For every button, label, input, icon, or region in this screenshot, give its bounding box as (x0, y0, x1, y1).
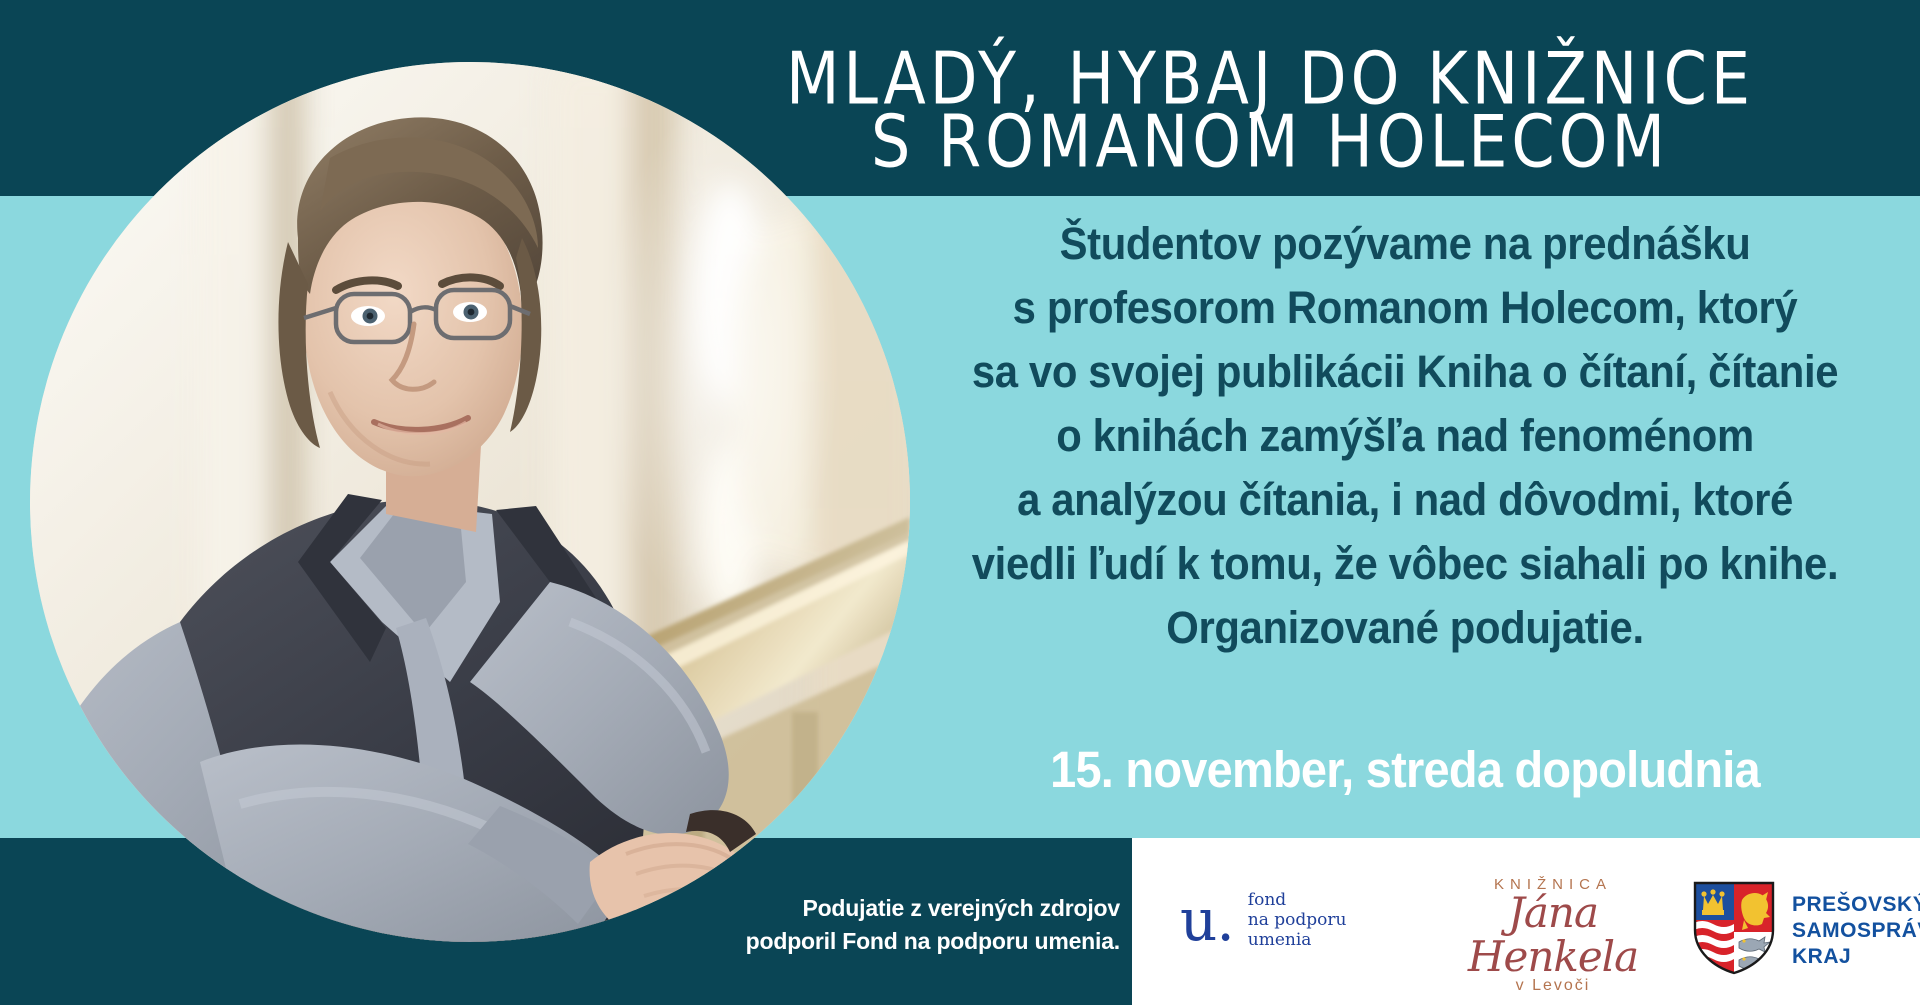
funding-note: Podujatie z verejných zdrojov podporil F… (620, 892, 1120, 958)
psk-line-1: PREŠOVSKÝ (1792, 892, 1920, 918)
kniznica-script-name: Jána Henkela (1438, 891, 1668, 979)
poster-canvas: MLADÝ, HYBAJ DO KNIŽNICE S ROMANOM HOLEC… (0, 0, 1920, 1005)
description-line: s profesorom Romanom Holecom, ktorý (935, 276, 1874, 340)
logo-fond-na-podporu-umenia: u. fond na podporu umenia (1180, 890, 1346, 950)
description-line: Organizované podujatie. (935, 596, 1874, 660)
title-line-2: S ROMANOM HOLECOM (871, 105, 1669, 178)
description-line: sa vo svojej publikácii Kniha o čítaní, … (935, 340, 1874, 404)
funding-note-line-1: Podujatie z verejných zdrojov (620, 892, 1120, 925)
logo-kniznica-jana-henkela: KNIŽNICA Jána Henkela v Levoči (1438, 876, 1668, 995)
description-line: viedli ľudí k tomu, že vôbec siahali po … (935, 532, 1874, 596)
logo-presovsky-samospravny-kraj: PREŠOVSKÝ SAMOSPRÁVNY KRAJ (1692, 880, 1920, 981)
description-line: o knihách zamýšľa nad fenoménom (935, 404, 1874, 468)
description-line: a analýzou čítania, i nad dôvodmi, ktoré (935, 468, 1874, 532)
funding-note-line-2: podporil Fond na podporu umenia. (620, 925, 1120, 958)
fpu-line-2: na podporu (1248, 910, 1347, 930)
psk-logo-text: PREŠOVSKÝ SAMOSPRÁVNY KRAJ (1792, 892, 1920, 970)
fpu-line-3: umenia (1248, 930, 1347, 950)
event-date: 15. november, streda dopoludnia (940, 740, 1869, 800)
fpu-line-1: fond (1248, 890, 1347, 910)
poster-title: MLADÝ, HYBAJ DO KNIŽNICE S ROMANOM HOLEC… (640, 24, 1900, 196)
description-line: Študentov pozývame na prednášku (935, 212, 1874, 276)
fpu-logo-text: fond na podporu umenia (1248, 890, 1347, 950)
psk-line-2: SAMOSPRÁVNY (1792, 918, 1920, 944)
presov-coat-of-arms-icon (1692, 880, 1776, 981)
fpu-wordmark-icon: u. (1180, 899, 1234, 941)
psk-line-3: KRAJ (1792, 944, 1920, 970)
description-text: Študentov pozývame na prednášku s profes… (900, 212, 1910, 660)
